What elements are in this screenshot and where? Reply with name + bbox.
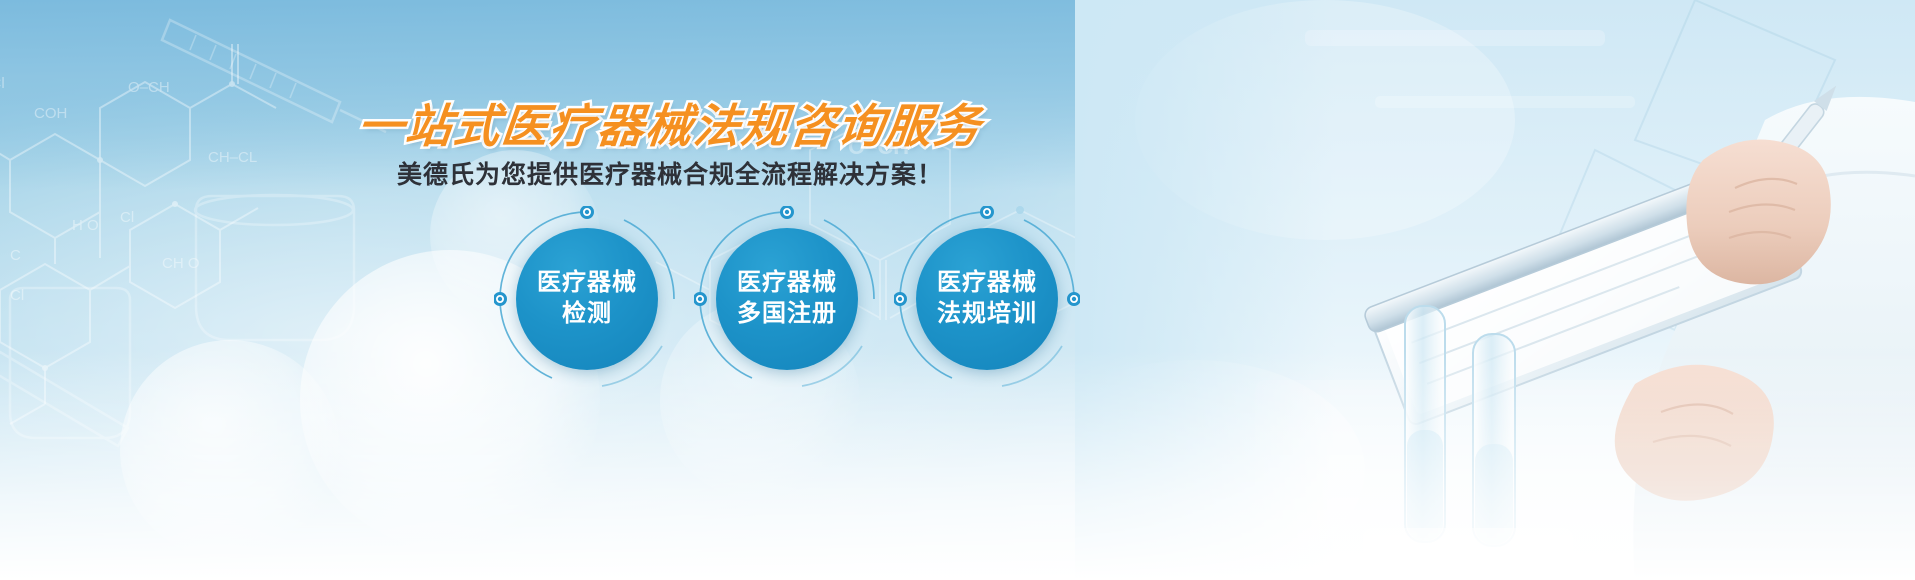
- service-badge-registration[interactable]: 医疗器械 多国注册: [716, 228, 858, 370]
- badge-label-line2: 法规培训: [937, 301, 1037, 328]
- badge-label-line2: 多国注册: [737, 301, 837, 328]
- badge-label-line1: 医疗器械: [537, 270, 637, 297]
- badge-disc: 医疗器械 多国注册: [716, 228, 858, 370]
- service-badge-training[interactable]: 医疗器械 法规培训: [916, 228, 1058, 370]
- badge-disc: 医疗器械 检测: [516, 228, 658, 370]
- service-badge-detection[interactable]: 医疗器械 检测: [516, 228, 658, 370]
- badge-disc: 医疗器械 法规培训: [916, 228, 1058, 370]
- subheadline-container: 美德氏为您提供医疗器械合规全流程解决方案！: [0, 155, 1340, 191]
- banner-subheadline: 美德氏为您提供医疗器械合规全流程解决方案！: [397, 155, 943, 191]
- hero-banner: – Cl O–CH COH CH–CL H O Cl C Cl CH O: [0, 0, 1915, 580]
- badge-label-line1: 医疗器械: [937, 270, 1037, 297]
- badge-label-line1: 医疗器械: [737, 270, 837, 297]
- service-badges: 医疗器械 检测: [490, 218, 1090, 378]
- badge-label-line2: 检测: [562, 301, 612, 328]
